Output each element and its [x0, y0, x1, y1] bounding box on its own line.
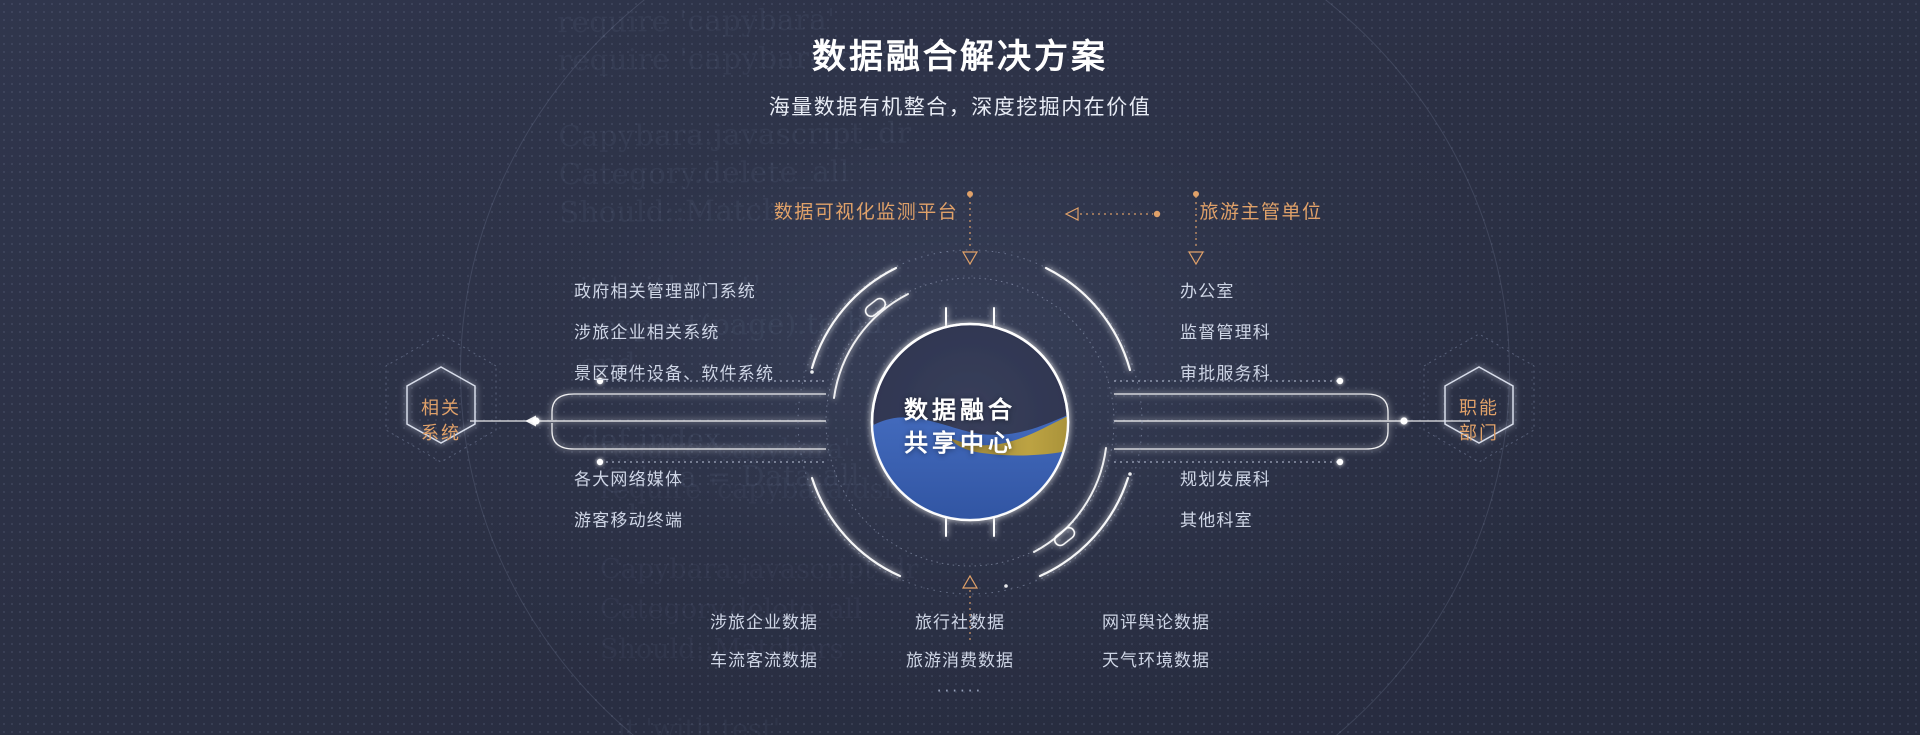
list-item[interactable]: 其他科室 [1180, 507, 1271, 536]
hex-left-line2: 系统 [386, 421, 496, 446]
hex-label-right[interactable]: 职能 部门 [1424, 396, 1534, 446]
right-dot-top [1337, 378, 1343, 384]
label-data-visualization-platform[interactable]: 数据可视化监测平台 [774, 198, 959, 227]
list-item[interactable]: 办公室 [1180, 278, 1271, 307]
right-upper-items: 办公室 监督管理科 审批服务科 [1180, 278, 1271, 389]
left-arrow-head [525, 416, 536, 427]
left-upper-items: 政府相关管理部门系统 涉旅企业相关系统 景区硬件设备、软件系统 [574, 278, 774, 389]
list-item[interactable]: 旅游消费数据 [886, 646, 1034, 671]
right-lower-items: 规划发展科 其他科室 [1180, 466, 1271, 536]
hex-left-line1: 相关 [386, 396, 496, 421]
list-item[interactable]: 监督管理科 [1180, 319, 1271, 348]
list-item[interactable]: 旅行社数据 [886, 608, 1034, 633]
ring-marker-top-left [863, 296, 887, 318]
infographic-stage: require 'capybara' require 'capybara/dsl… [0, 0, 1920, 735]
top-link-dot [1154, 211, 1160, 217]
hex-right-line2: 部门 [1424, 421, 1534, 446]
list-item[interactable]: 游客移动终端 [574, 507, 683, 536]
top-link-arrow-head [1066, 208, 1078, 220]
list-item[interactable]: 各大网络媒体 [574, 466, 683, 495]
hex-label-left[interactable]: 相关 系统 [386, 396, 496, 446]
right-connector-group [1114, 394, 1404, 449]
label-tourism-authority[interactable]: 旅游主管单位 [1199, 198, 1322, 227]
list-item[interactable]: 景区硬件设备、软件系统 [574, 360, 774, 389]
vertical-drop-left [963, 191, 977, 264]
top-link-connector [1066, 208, 1160, 220]
ring-marker-bottom-right [1053, 525, 1077, 547]
right-dot-bottom [1337, 459, 1343, 465]
left-connector-group [536, 394, 826, 449]
hex-right-line1: 职能 [1424, 396, 1534, 421]
list-item[interactable]: 涉旅企业数据 [690, 608, 838, 633]
list-item[interactable]: 规划发展科 [1180, 466, 1271, 495]
list-item[interactable]: 网评舆论数据 [1082, 608, 1230, 633]
list-item[interactable]: 审批服务科 [1180, 360, 1271, 389]
list-item[interactable]: 天气环境数据 [1082, 646, 1230, 671]
bottom-data-items: 涉旅企业数据 旅行社数据 网评舆论数据 车流客流数据 旅游消费数据 天气环境数据 [690, 608, 1230, 671]
left-lower-items: 各大网络媒体 游客移动终端 [574, 466, 683, 536]
list-item[interactable]: 涉旅企业相关系统 [574, 319, 774, 348]
bottom-ellipsis: ······ [937, 682, 984, 700]
left-dot-bottom [597, 459, 603, 465]
list-item[interactable]: 车流客流数据 [690, 646, 838, 671]
list-item[interactable]: 政府相关管理部门系统 [574, 278, 774, 307]
